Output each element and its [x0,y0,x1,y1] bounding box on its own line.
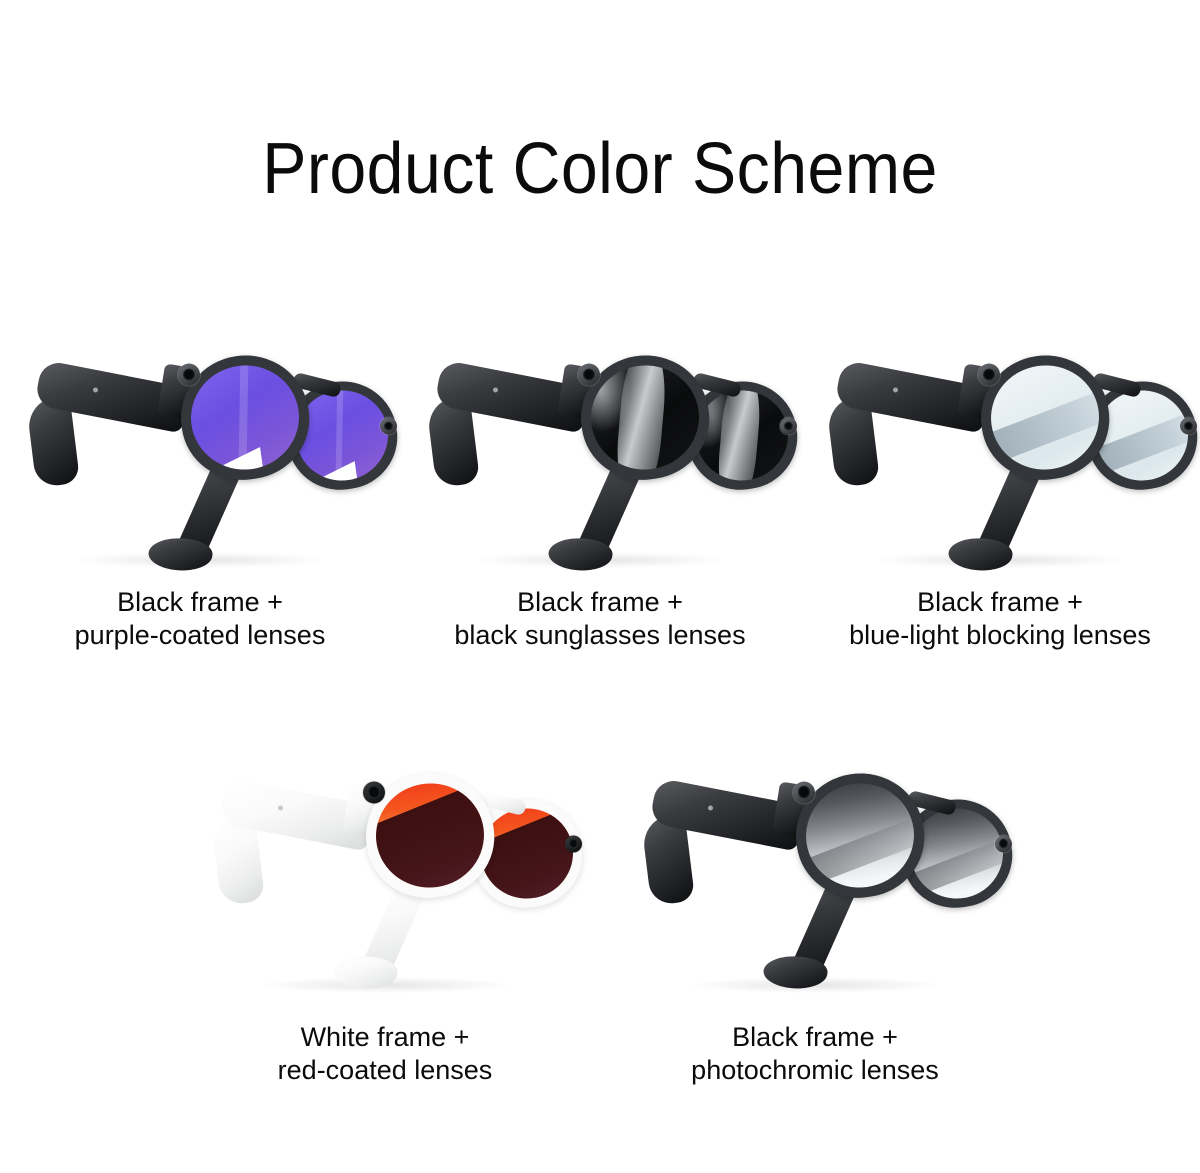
lens-left [369,776,490,894]
smart-glasses-render [650,765,980,970]
camera-lens-icon-left [363,781,385,803]
caption-line-2: purple-coated lenses [75,619,326,652]
smart-glasses-render [835,348,1165,553]
product-card-black-photochromic[interactable]: Black frame + photochromic lenses [600,740,1030,1088]
smart-glasses-render [220,765,550,970]
camera-lens-icon-right [565,835,582,852]
caption-line-2: red-coated lenses [278,1054,493,1087]
caption-line-1: Black frame + [454,586,745,619]
caption-line-1: Black frame + [691,1021,939,1054]
smart-glasses-render [435,348,765,553]
camera-lens-icon-right [380,418,397,435]
product-caption: White frame + red-coated lenses [278,1021,493,1088]
product-card-black-sunglasses[interactable]: Black frame + black sunglasses lenses [400,330,800,653]
product-image-black-purple [20,330,380,570]
led-indicator-icon [493,388,498,393]
caption-line-1: White frame + [278,1021,493,1054]
camera-lens-icon-left [578,364,600,386]
product-image-black-sunglasses [420,330,780,570]
camera-lens-icon-left [978,364,1000,386]
camera-lens-icon-right [1180,418,1197,435]
product-caption: Black frame + purple-coated lenses [75,586,326,653]
lens-left [984,358,1105,476]
product-image-black-bluelight [820,330,1180,570]
product-caption: Black frame + photochromic lenses [691,1021,939,1088]
caption-line-2: blue-light blocking lenses [849,619,1151,652]
caption-line-2: black sunglasses lenses [454,619,745,652]
led-indicator-icon [278,805,283,810]
caption-line-2: photochromic lenses [691,1054,939,1087]
led-indicator-icon [708,805,713,810]
smart-glasses-render [35,348,365,553]
product-row-top: Black frame + purple-coated lenses [0,330,1200,653]
camera-lens-icon-right [995,835,1012,852]
lens-left [584,358,705,476]
led-indicator-icon [93,388,98,393]
product-color-scheme-page: Product Color Scheme [0,0,1200,1173]
led-indicator-icon [893,388,898,393]
lens-left [799,776,920,894]
product-image-black-photochromic [635,740,995,995]
product-card-black-bluelight[interactable]: Black frame + blue-light blocking lenses [800,330,1200,653]
camera-lens-icon-right [780,418,797,435]
camera-lens-icon-left [793,781,815,803]
page-title: Product Color Scheme [48,128,1152,210]
camera-lens-icon-left [178,364,200,386]
product-image-white-red [205,740,565,995]
lens-left [184,358,305,476]
caption-line-1: Black frame + [849,586,1151,619]
product-card-white-red[interactable]: White frame + red-coated lenses [170,740,600,1088]
product-card-black-purple[interactable]: Black frame + purple-coated lenses [0,330,400,653]
product-row-bottom: White frame + red-coated lenses [0,740,1200,1088]
product-caption: Black frame + blue-light blocking lenses [849,586,1151,653]
product-caption: Black frame + black sunglasses lenses [454,586,745,653]
caption-line-1: Black frame + [75,586,326,619]
